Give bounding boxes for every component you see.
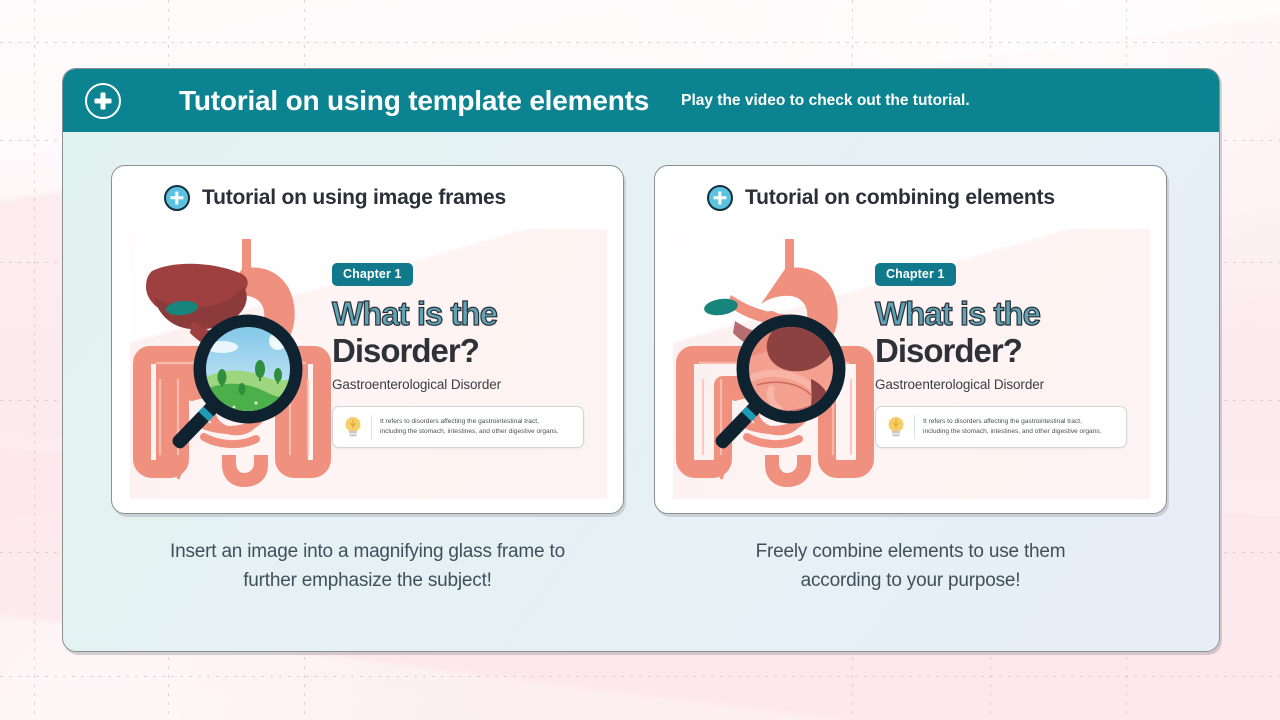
digestive-system-illustration: [673, 229, 903, 499]
slide-preview[interactable]: Chapter 1 What is the Disorder? Gastroen…: [130, 229, 607, 499]
card-caption: Insert an image into a magnifying glass …: [170, 538, 565, 596]
slide-subheading: Gastroenterological Disorder: [332, 377, 600, 392]
card-header: Tutorial on using image frames: [112, 166, 623, 229]
slide-heading: What is the Disorder?: [332, 296, 600, 368]
tip-divider: [371, 415, 372, 439]
tip-box: It refers to disorders affecting the gas…: [332, 406, 584, 448]
card-title: Tutorial on using image frames: [202, 186, 506, 210]
tutorial-card[interactable]: Tutorial on using image frames: [111, 165, 624, 514]
slide-subheading: Gastroenterological Disorder: [875, 377, 1143, 392]
chapter-chip: Chapter 1: [875, 263, 956, 286]
chapter-chip: Chapter 1: [332, 263, 413, 286]
plus-circle-icon[interactable]: [85, 83, 121, 119]
lightbulb-icon: [342, 415, 364, 439]
card-caption: Freely combine elements to use them acco…: [756, 538, 1066, 596]
tip-text: It refers to disorders affecting the gas…: [380, 417, 559, 437]
tutorial-card[interactable]: Tutorial on combining elements: [654, 165, 1167, 514]
lightbulb-icon: [885, 415, 907, 439]
plus-circle-small-icon[interactable]: [164, 185, 190, 211]
card-title: Tutorial on combining elements: [745, 186, 1055, 210]
page-title: Tutorial on using template elements: [179, 85, 649, 117]
tip-box: It refers to disorders affecting the gas…: [875, 406, 1127, 448]
header-subtitle: Play the video to check out the tutorial…: [681, 92, 970, 110]
panel-body: Tutorial on using image frames: [63, 132, 1219, 596]
digestive-system-illustration: [130, 229, 360, 499]
slide-text-block: Chapter 1 What is the Disorder? Gastroen…: [332, 263, 600, 448]
plus-circle-small-icon[interactable]: [707, 185, 733, 211]
slide-text-block: Chapter 1 What is the Disorder? Gastroen…: [875, 263, 1143, 448]
tutorial-column-image-frames: Tutorial on using image frames: [111, 165, 624, 596]
slide-canvas: Tutorial on using template elements Play…: [0, 0, 1280, 720]
tutorial-panel: Tutorial on using template elements Play…: [62, 68, 1220, 652]
card-header: Tutorial on combining elements: [655, 166, 1166, 229]
tip-divider: [914, 415, 915, 439]
slide-preview[interactable]: Chapter 1 What is the Disorder? Gastroen…: [673, 229, 1150, 499]
panel-header: Tutorial on using template elements Play…: [63, 69, 1219, 132]
tip-text: It refers to disorders affecting the gas…: [923, 417, 1102, 437]
slide-heading: What is the Disorder?: [875, 296, 1143, 368]
tutorial-column-combining-elements: Tutorial on combining elements: [654, 165, 1167, 596]
